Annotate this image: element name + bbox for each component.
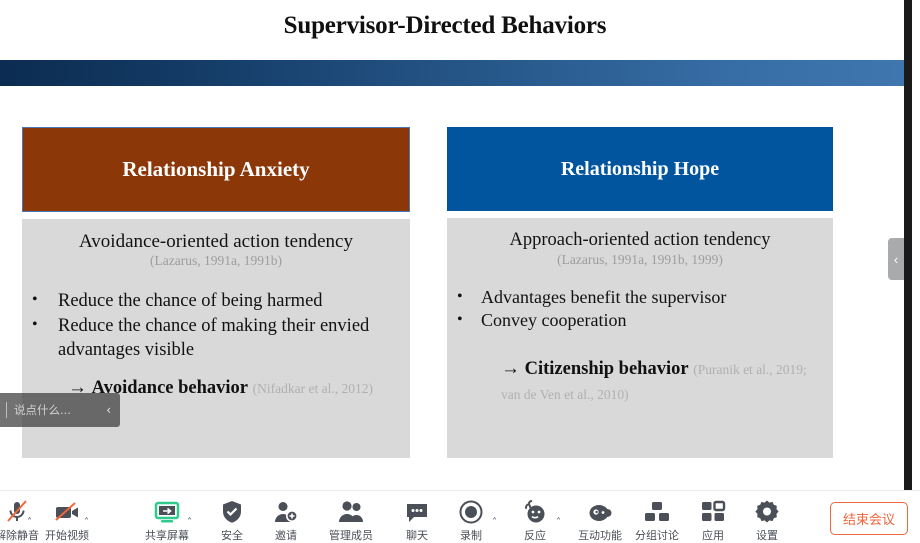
toolbar-security-button[interactable]: 安全 xyxy=(203,499,261,543)
hope-bullet-list: • Advantages benefit the supervisor • Co… xyxy=(457,286,823,334)
record-caret-icon[interactable]: ˄ xyxy=(492,517,497,528)
toolbar-label: 反应 xyxy=(524,527,546,543)
hope-tendency: Approach-oriented action tendency xyxy=(457,230,823,251)
toolbar-whiteboard-button[interactable]: 互动功能 xyxy=(571,499,629,543)
bullet-dot-icon: • xyxy=(32,314,58,337)
camera-caret-icon[interactable]: ˄ xyxy=(84,517,89,528)
gear-icon xyxy=(754,499,780,525)
toolbar-settings-button[interactable]: 设置 xyxy=(738,499,796,543)
slide-title: Supervisor-Directed Behaviors xyxy=(0,12,890,40)
end-meeting-label: 结束会议 xyxy=(843,513,895,528)
shield-check-icon xyxy=(220,499,244,525)
slide-accent-bar xyxy=(0,60,912,86)
hope-outcome-label: Citizenship behavior xyxy=(525,359,689,379)
end-meeting-button[interactable]: 结束会议 xyxy=(830,502,908,535)
share-caret-icon[interactable]: ˄ xyxy=(187,517,192,528)
bullet-text: Reduce the chance of being harmed xyxy=(58,289,323,313)
meeting-window: Supervisor-Directed Behaviors Relationsh… xyxy=(0,0,920,543)
toolbar-label: 邀请 xyxy=(275,527,297,543)
shared-slide: Supervisor-Directed Behaviors Relationsh… xyxy=(0,0,912,490)
toolbar-label: 管理成员 xyxy=(329,527,373,543)
bullet-dot-icon: • xyxy=(32,289,58,312)
whiteboard-face-icon xyxy=(586,499,614,525)
toolbar-participants-button[interactable]: 管理成员 xyxy=(322,499,380,543)
list-item: • Convey cooperation xyxy=(457,309,823,333)
panel-header-anxiety-label: Relationship Anxiety xyxy=(122,157,309,182)
panel-header-anxiety: Relationship Anxiety xyxy=(22,127,410,212)
toolbar-label: 应用 xyxy=(702,527,724,543)
meeting-toolbar: 解除静音 ˄ 开始视频 ˄ xyxy=(0,490,920,543)
toolbar-invite-button[interactable]: 邀请 xyxy=(257,499,315,543)
invite-person-icon xyxy=(273,499,299,525)
list-item: • Reduce the chance of being harmed xyxy=(32,289,400,313)
toolbar-label: 开始视频 xyxy=(45,527,89,543)
apps-grid-icon xyxy=(700,499,726,525)
toolbar-label: 聊天 xyxy=(406,527,428,543)
record-icon xyxy=(458,499,484,525)
floating-chat-input[interactable]: 说点什么... ‹ xyxy=(0,393,120,427)
toolbar-label: 解除静音 xyxy=(0,527,39,543)
panel-relationship-hope: Relationship Hope Approach-oriented acti… xyxy=(447,127,833,458)
panel-body-hope: Approach-oriented action tendency (Lazar… xyxy=(447,218,833,458)
reactions-caret-icon[interactable]: ˄ xyxy=(556,517,561,528)
arrow-right-icon: → xyxy=(501,358,520,379)
toolbar-label: 互动功能 xyxy=(578,527,622,543)
breakout-rooms-icon xyxy=(643,499,671,525)
toolbar-label: 分组讨论 xyxy=(635,527,679,543)
toolbar-label: 共享屏幕 xyxy=(145,527,189,543)
panel-header-hope: Relationship Hope xyxy=(447,127,833,211)
bullet-text: Reduce the chance of making their envied… xyxy=(58,314,400,363)
participants-icon xyxy=(337,499,365,525)
toolbar-apps-button[interactable]: 应用 xyxy=(684,499,742,543)
chevron-left-icon: ‹ xyxy=(106,403,120,417)
toolbar-label: 设置 xyxy=(756,527,778,543)
collapse-panel-button[interactable]: ‹ xyxy=(888,238,904,280)
bullet-dot-icon: • xyxy=(457,309,481,332)
toolbar-chat-button[interactable]: 聊天 xyxy=(388,499,446,543)
anxiety-tendency: Avoidance-oriented action tendency xyxy=(32,231,400,252)
bullet-text: Advantages benefit the supervisor xyxy=(481,286,726,310)
bullet-dot-icon: • xyxy=(457,286,481,309)
bullet-text: Convey cooperation xyxy=(481,309,626,333)
anxiety-bullet-list: • Reduce the chance of being harmed • Re… xyxy=(32,289,400,362)
hope-tendency-citation: (Lazarus, 1991a, 1991b, 1999) xyxy=(457,252,823,268)
microphone-caret-icon[interactable]: ˄ xyxy=(27,517,32,528)
list-item: • Reduce the chance of making their envi… xyxy=(32,314,400,363)
chevron-left-icon: ‹ xyxy=(894,252,898,267)
toolbar-label: 安全 xyxy=(221,527,243,543)
toolbar-label: 录制 xyxy=(460,527,482,543)
share-screen-icon xyxy=(153,499,181,525)
anxiety-tendency-citation: (Lazarus, 1991a, 1991b) xyxy=(32,253,400,269)
camera-muted-icon xyxy=(53,499,81,525)
right-rail xyxy=(904,0,912,490)
microphone-muted-icon xyxy=(5,499,29,525)
hope-outcome: → Citizenship behavior (Puranik et al., … xyxy=(457,357,823,406)
list-item: • Advantages benefit the supervisor xyxy=(457,286,823,310)
chat-bubble-icon xyxy=(404,499,430,525)
anxiety-outcome-citation: (Nifadkar et al., 2012) xyxy=(253,381,373,396)
reactions-icon xyxy=(521,499,549,525)
chat-placeholder: 说点什么... xyxy=(14,402,106,418)
panel-header-hope-label: Relationship Hope xyxy=(561,158,719,181)
caret-bar xyxy=(6,402,7,418)
toolbar-breakout-rooms-button[interactable]: 分组讨论 xyxy=(628,499,686,543)
